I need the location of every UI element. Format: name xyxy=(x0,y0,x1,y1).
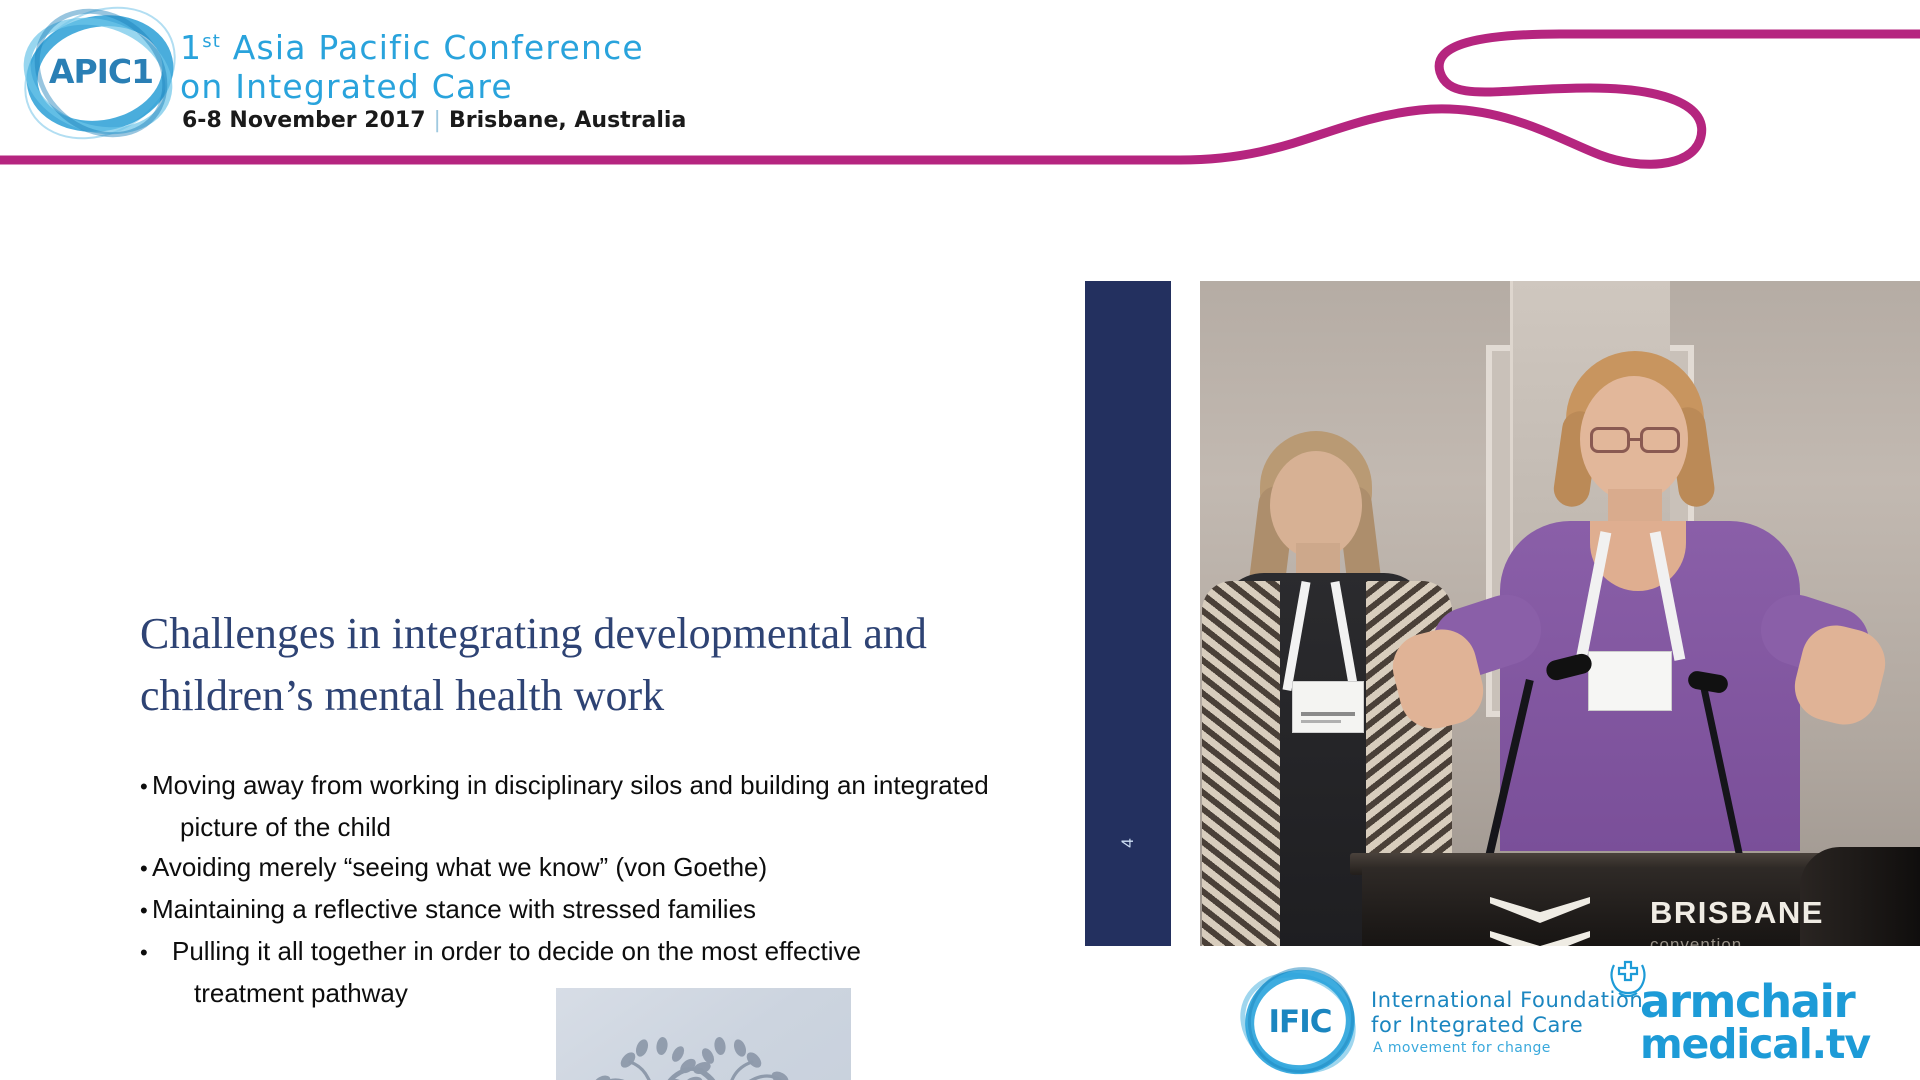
armchair-wordmark-line1: armchair xyxy=(1640,980,1854,1024)
name-badge xyxy=(1292,681,1364,733)
apic-logo: APIC1 xyxy=(20,12,182,134)
bullet-text: Moving away from working in disciplinary… xyxy=(152,770,989,800)
slide-progress-bar[interactable]: 4 xyxy=(1085,281,1171,946)
bullet-continuation: picture of the child xyxy=(140,807,1150,847)
slide-content: Challenges in integrating developmental … xyxy=(40,278,1168,946)
speaker-video[interactable]: BRISBANE convention xyxy=(1200,281,1920,946)
list-item: •Maintaining a reflective stance with st… xyxy=(140,889,1150,931)
conference-header: APIC1 1st Asia Pacific Conference on Int… xyxy=(0,0,1920,200)
ific-name-line1: International Foundation xyxy=(1371,988,1643,1012)
conference-date-location: 6-8 November 2017|Brisbane, Australia xyxy=(182,108,686,133)
conference-dates: 6-8 November 2017 xyxy=(182,108,426,133)
bullet-text: Pulling it all together in order to deci… xyxy=(172,936,861,966)
bullet-marker: • xyxy=(140,849,152,889)
slide-page-number: 4 xyxy=(1098,800,1158,886)
podium-brand-text: BRISBANE xyxy=(1650,895,1824,931)
slide-title: Challenges in integrating developmental … xyxy=(140,603,1070,727)
conference-title-line1: 1st Asia Pacific Conference xyxy=(180,28,644,67)
bullet-marker: • xyxy=(140,891,152,931)
bullet-text: Avoiding merely “seeing what we know” (v… xyxy=(152,852,767,882)
list-item: •Moving away from working in disciplinar… xyxy=(140,765,1150,847)
apic-logo-text: APIC1 xyxy=(20,52,182,91)
ific-name-line2: for Integrated Care xyxy=(1371,1013,1583,1037)
conference-location: Brisbane, Australia xyxy=(449,108,686,133)
slide-viewer: APIC1 1st Asia Pacific Conference on Int… xyxy=(0,0,1920,1080)
conference-title: 1st Asia Pacific Conference on Integrate… xyxy=(180,22,644,106)
slide-bullet-list: •Moving away from working in disciplinar… xyxy=(140,765,1150,1013)
list-item: •Avoiding merely “seeing what we know” (… xyxy=(140,847,1150,889)
ific-tagline: A movement for change xyxy=(1373,1040,1551,1056)
bullet-marker: • xyxy=(140,933,172,973)
name-badge xyxy=(1588,651,1672,711)
armchair-wordmark-line2: medical.tv xyxy=(1640,1024,1870,1064)
ific-logo-mark: IFIC xyxy=(1235,1004,1365,1040)
podium-sub-text: convention xyxy=(1650,935,1742,946)
bullet-text: Maintaining a reflective stance with str… xyxy=(152,894,756,924)
conference-title-line2: on Integrated Care xyxy=(180,67,644,106)
armchair-medical-logo[interactable]: armchair medical.tv xyxy=(1640,962,1920,1074)
ific-logo: IFIC International Foundation for Integr… xyxy=(1235,966,1595,1076)
tree-relief-icon xyxy=(556,988,851,1080)
bullet-marker: • xyxy=(140,767,152,807)
two-trees-image xyxy=(556,988,851,1080)
